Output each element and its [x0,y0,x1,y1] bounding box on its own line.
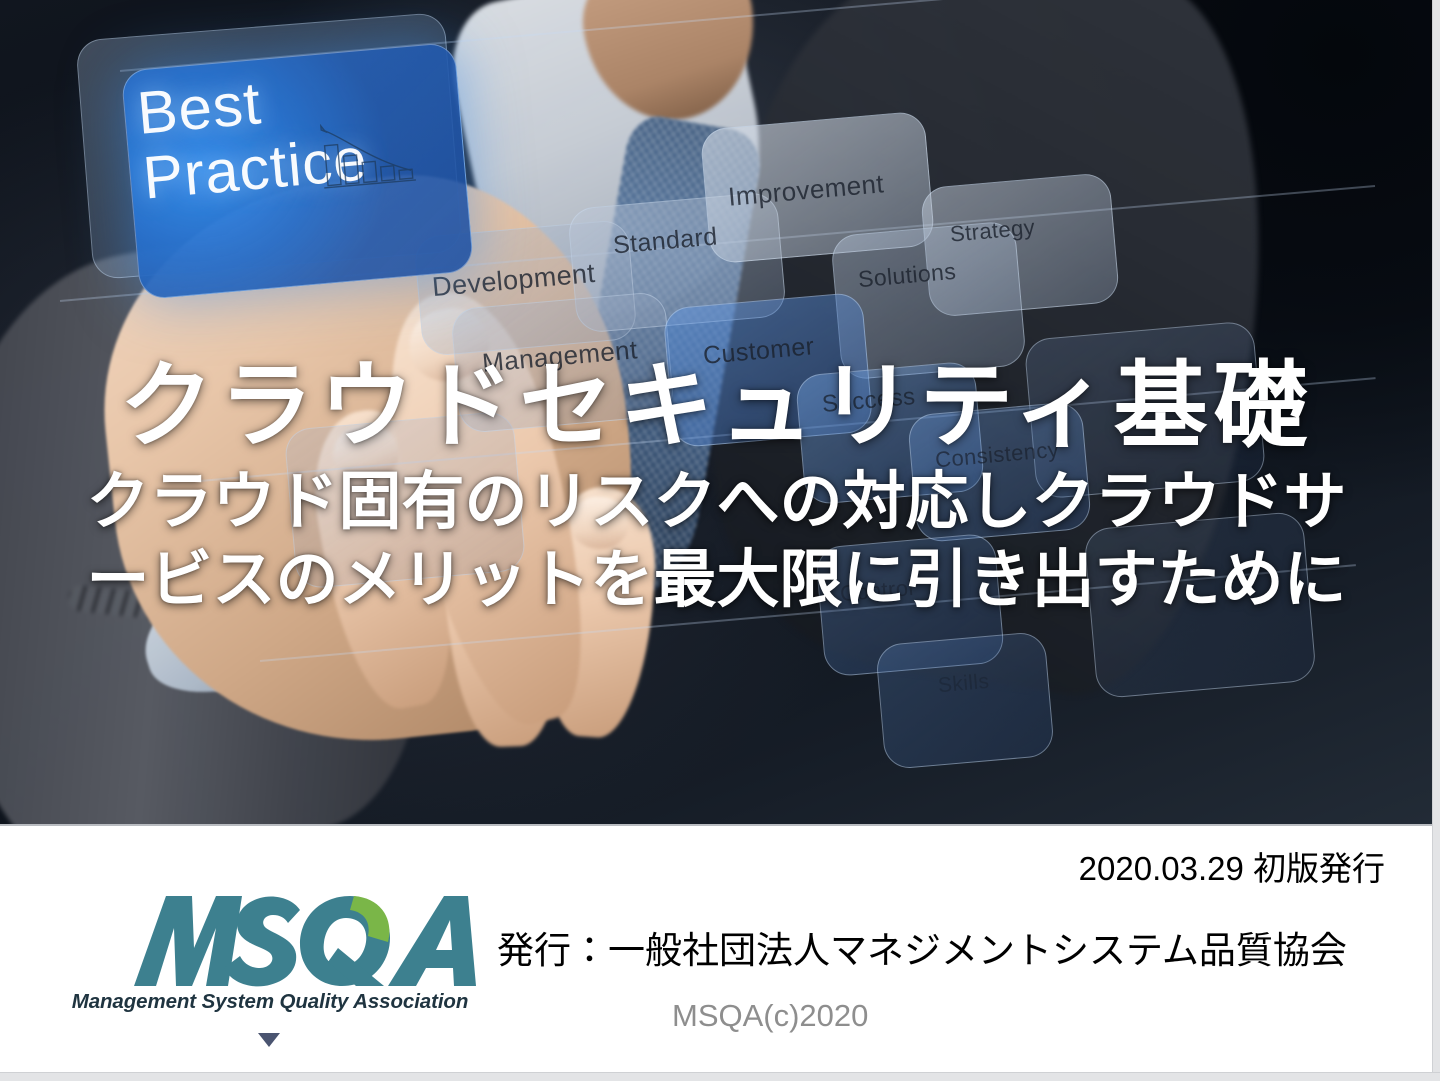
slide-title: クラウドセキュリティ基礎 [0,355,1433,457]
page-edge-bottom [0,1072,1440,1081]
hero-image: Development Standard Improvement Strateg… [0,0,1433,826]
bar-chart-icon [315,116,422,204]
page-edge-right [1432,0,1440,1081]
footer: 2020.03.29 初版発行 Management System Qualit… [0,828,1433,1072]
copyright-notice: MSQA(c)2020 [672,998,868,1034]
publisher-line: 発行：一般社団法人マネジメントシステム品質協会 [497,920,1347,974]
hologram-panel-skills [875,631,1055,770]
msqa-logo: Management System Quality Association [60,890,480,1025]
publication-date: 2020.03.29 初版発行 [1079,842,1385,890]
msqa-logo-tagline: Management System Quality Association [60,990,480,1014]
hologram-label-skills: Skills [937,670,990,698]
title-block: クラウドセキュリティ基礎 クラウド固有のリスクへの対応しクラウドサービスのメリッ… [0,355,1433,620]
chevron-down-icon [258,1033,280,1047]
presentation-slide: Development Standard Improvement Strateg… [0,0,1440,1081]
msqa-wordmark-icon [88,890,478,990]
slide-subtitle: クラウド固有のリスクへの対応しクラウドサービスのメリットを最大限に引き出すために [57,463,1377,621]
